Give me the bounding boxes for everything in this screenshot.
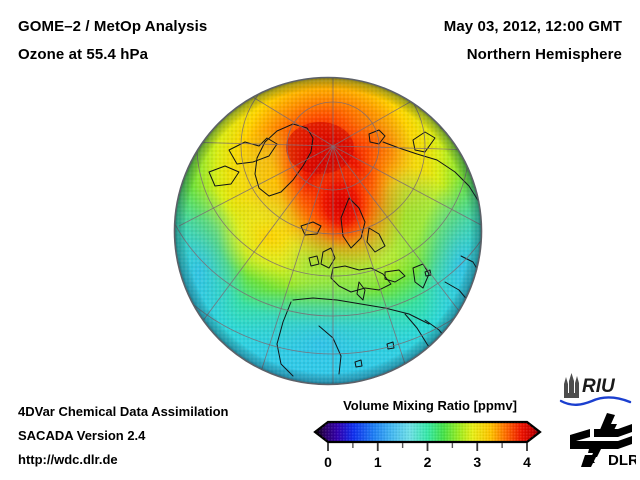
colorbar-tick-label: 2 [424, 454, 432, 470]
riu-logo: RIU [558, 371, 634, 409]
colorbar-tick-label: 0 [324, 454, 332, 470]
timestamp-label: May 03, 2012, 12:00 GMT [444, 18, 622, 35]
colorbar: Volume Mixing Ratio [ppmv] 01234 [310, 398, 550, 474]
source-url-label[interactable]: http://wdc.dlr.de [18, 452, 118, 467]
riu-wave-icon [561, 397, 630, 404]
limb-shading [174, 77, 482, 385]
orthographic-globe-svg [173, 76, 483, 386]
riu-wordmark: RIU [582, 376, 616, 397]
dlr-logo: DLR [566, 411, 636, 467]
dlr-wordmark: DLR [608, 452, 636, 467]
globe-map [173, 76, 483, 386]
method-label: 4DVar Chemical Data Assimilation [18, 404, 229, 419]
region-label: Northern Hemisphere [467, 46, 622, 63]
ozone-analysis-figure: GOME–2 / MetOp Analysis Ozone at 55.4 hP… [0, 0, 640, 480]
colorbar-tick-label: 1 [374, 454, 382, 470]
colorbar-tick-labels: 01234 [324, 454, 531, 470]
riu-cathedral-icon [564, 373, 579, 398]
colorbar-ticks [328, 443, 527, 451]
colorbar-tick-label: 4 [523, 454, 531, 470]
colorbar-dither [315, 422, 540, 442]
colorbar-tick-label: 3 [473, 454, 481, 470]
page-title: GOME–2 / MetOp Analysis [18, 18, 207, 35]
page-subtitle: Ozone at 55.4 hPa [18, 46, 148, 63]
colorbar-body [315, 422, 540, 442]
colorbar-title: Volume Mixing Ratio [ppmv] [310, 398, 550, 413]
version-label: SACADA Version 2.4 [18, 428, 145, 443]
colorbar-svg: 01234 [310, 418, 550, 474]
